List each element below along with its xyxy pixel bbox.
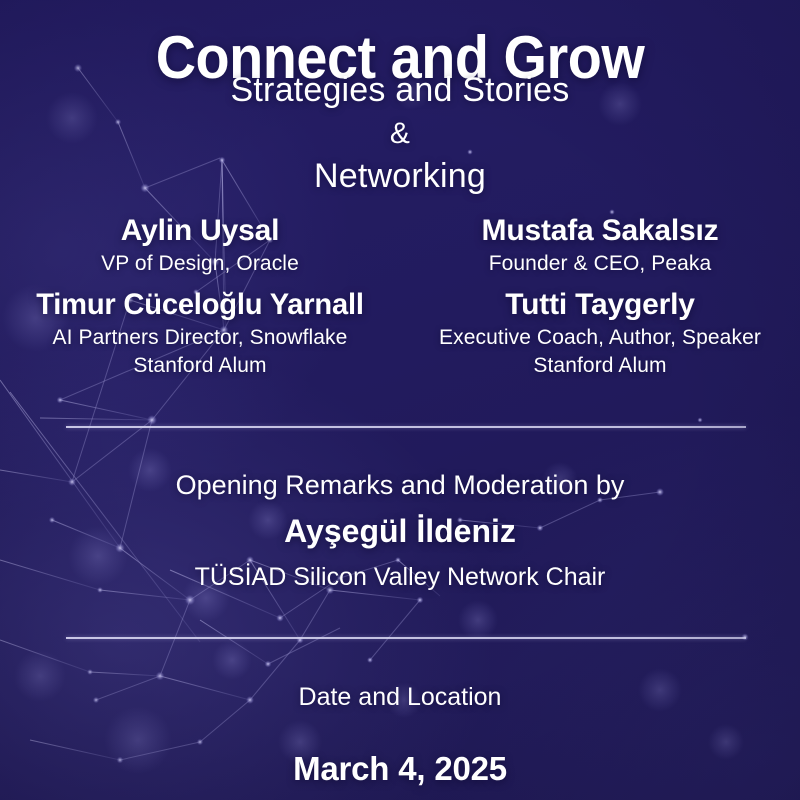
subtitle-line-3: Networking <box>0 154 800 198</box>
speaker-name: Timur Cüceloğlu Yarnall <box>6 286 394 324</box>
moderation-label: Opening Remarks and Moderation by <box>0 468 800 502</box>
speakers-column-left: Aylin Uysal VP of Design, Oracle Timur C… <box>0 212 400 388</box>
event-poster: Connect and Grow Strategies and Stories … <box>0 0 800 800</box>
speaker-name: Tutti Taygerly <box>400 286 800 324</box>
speaker-card: Timur Cüceloğlu Yarnall AI Partners Dire… <box>0 286 400 380</box>
speaker-name: Aylin Uysal <box>0 212 400 250</box>
speaker-card: Tutti Taygerly Executive Coach, Author, … <box>400 286 800 380</box>
speaker-affiliation: Stanford Alum <box>0 352 400 380</box>
speaker-affiliation: Stanford Alum <box>400 352 800 380</box>
moderator-name: Ayşegül İldeniz <box>0 510 800 552</box>
speaker-name: Mustafa Sakalsız <box>400 212 800 250</box>
speaker-role: Founder & CEO, Peaka <box>400 250 800 278</box>
date-location-label: Date and Location <box>0 681 800 713</box>
speaker-card: Aylin Uysal VP of Design, Oracle <box>0 212 400 278</box>
section-divider-top <box>66 426 746 428</box>
subtitle-line-1: Strategies and Stories <box>0 68 800 112</box>
speaker-role: VP of Design, Oracle <box>0 250 400 278</box>
speaker-card: Mustafa Sakalsız Founder & CEO, Peaka <box>400 212 800 278</box>
speaker-role: Executive Coach, Author, Speaker <box>400 324 800 352</box>
section-divider-bottom <box>66 637 746 639</box>
speakers-grid: Aylin Uysal VP of Design, Oracle Timur C… <box>0 212 800 388</box>
moderator-role: TÜSİAD Silicon Valley Network Chair <box>0 561 800 593</box>
speakers-column-right: Mustafa Sakalsız Founder & CEO, Peaka Tu… <box>400 212 800 388</box>
subtitle-line-2: & <box>0 112 800 156</box>
speaker-role: AI Partners Director, Snowflake <box>0 324 400 352</box>
event-date: March 4, 2025 <box>0 748 800 790</box>
